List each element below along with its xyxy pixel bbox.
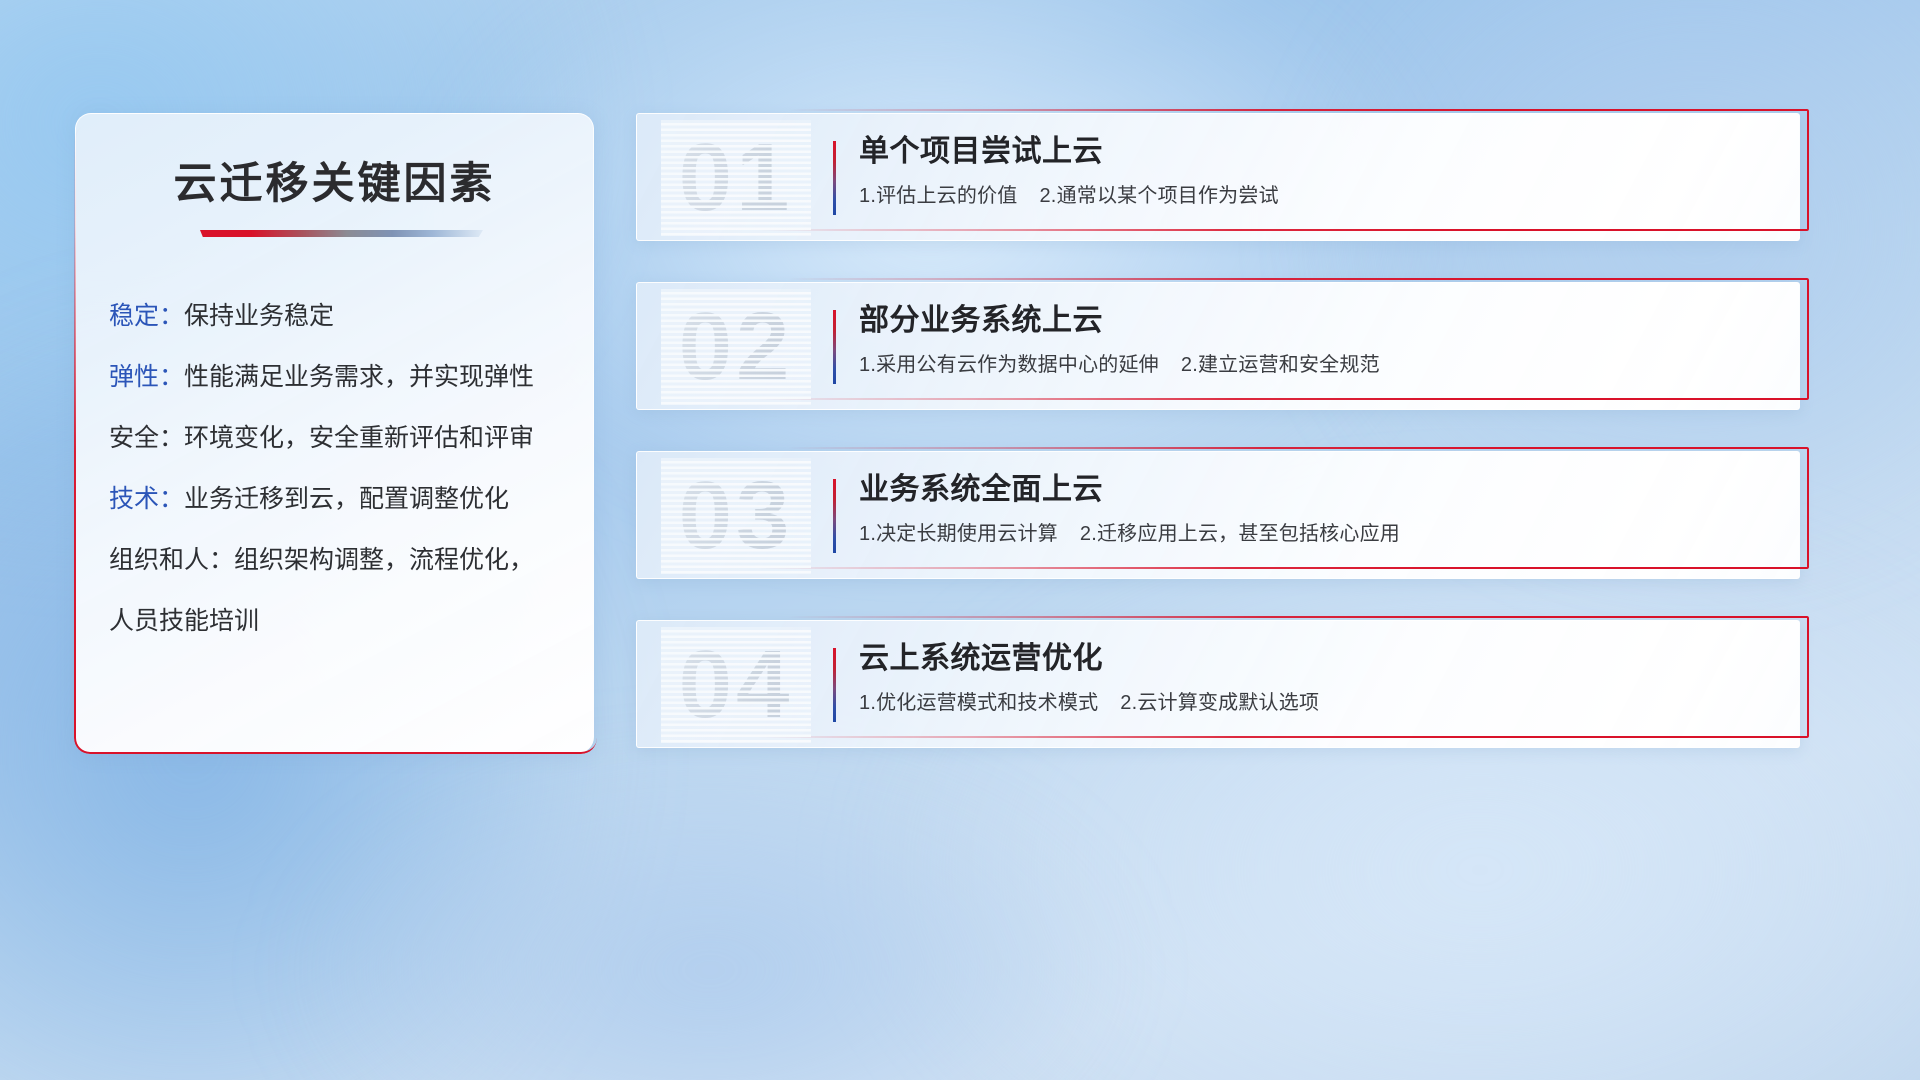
card-subtitle: 1.采用公有云作为数据中心的延伸2.建立运营和安全规范 bbox=[859, 352, 1769, 378]
list-item-continuation: 人员技能培训 bbox=[109, 607, 569, 636]
card-point-2: 2.建立运营和安全规范 bbox=[1181, 354, 1380, 376]
card-content: 云上系统运营优化 1.优化运营模式和技术模式2.云计算变成默认选项 bbox=[859, 639, 1769, 716]
factor-label: 弹性： bbox=[109, 363, 184, 391]
card-title: 业务系统全面上云 bbox=[859, 470, 1769, 510]
title-underline-accent bbox=[200, 230, 483, 237]
stage-card-02[interactable]: 02 部分业务系统上云 1.采用公有云作为数据中心的延伸2.建立运营和安全规范 bbox=[636, 282, 1800, 410]
card-accent-divider bbox=[833, 310, 836, 384]
factor-label: 技术： bbox=[109, 485, 184, 513]
list-item: 弹性：性能满足业务需求，并实现弹性 bbox=[109, 363, 569, 392]
page-title: 云迁移关键因素 bbox=[76, 149, 593, 211]
list-item: 技术：业务迁移到云，配置调整优化 bbox=[109, 485, 569, 514]
card-point-1: 1.评估上云的价值 bbox=[859, 185, 1017, 207]
factor-value: 人员技能培训 bbox=[109, 607, 259, 635]
stage-card-04[interactable]: 04 云上系统运营优化 1.优化运营模式和技术模式2.云计算变成默认选项 bbox=[636, 620, 1800, 748]
factor-value: 组织架构调整，流程优化， bbox=[234, 546, 534, 574]
card-content: 业务系统全面上云 1.决定长期使用云计算2.迁移应用上云，甚至包括核心应用 bbox=[859, 470, 1769, 547]
background-glow-bottom-center bbox=[300, 760, 1120, 1080]
card-point-2: 2.云计算变成默认选项 bbox=[1120, 692, 1319, 714]
card-subtitle: 1.决定长期使用云计算2.迁移应用上云，甚至包括核心应用 bbox=[859, 521, 1769, 547]
factor-value: 环境变化，安全重新评估和评审 bbox=[184, 424, 534, 452]
card-number-text: 04 bbox=[661, 627, 811, 743]
factor-label: 安全： bbox=[109, 424, 184, 452]
list-item: 组织和人：组织架构调整，流程优化， bbox=[109, 546, 569, 575]
card-title: 单个项目尝试上云 bbox=[859, 132, 1769, 172]
card-accent-divider bbox=[833, 141, 836, 215]
factor-value: 性能满足业务需求，并实现弹性 bbox=[184, 363, 534, 391]
card-title: 部分业务系统上云 bbox=[859, 301, 1769, 341]
card-content: 单个项目尝试上云 1.评估上云的价值2.通常以某个项目作为尝试 bbox=[859, 132, 1769, 209]
slide-canvas: 云迁移关键因素 稳定：保持业务稳定 弹性：性能满足业务需求，并实现弹性 安全：环… bbox=[0, 0, 1920, 1080]
card-point-1: 1.采用公有云作为数据中心的延伸 bbox=[859, 354, 1159, 376]
card-point-2: 2.迁移应用上云，甚至包括核心应用 bbox=[1080, 523, 1400, 545]
card-accent-divider bbox=[833, 648, 836, 722]
card-point-1: 1.优化运营模式和技术模式 bbox=[859, 692, 1098, 714]
card-title: 云上系统运营优化 bbox=[859, 639, 1769, 679]
stage-card-03[interactable]: 03 业务系统全面上云 1.决定长期使用云计算2.迁移应用上云，甚至包括核心应用 bbox=[636, 451, 1800, 579]
card-subtitle: 1.评估上云的价值2.通常以某个项目作为尝试 bbox=[859, 183, 1769, 209]
card-point-1: 1.决定长期使用云计算 bbox=[859, 523, 1058, 545]
card-content: 部分业务系统上云 1.采用公有云作为数据中心的延伸2.建立运营和安全规范 bbox=[859, 301, 1769, 378]
card-number-watermark: 02 bbox=[661, 289, 811, 405]
stage-card-01[interactable]: 01 单个项目尝试上云 1.评估上云的价值2.通常以某个项目作为尝试 bbox=[636, 113, 1800, 241]
card-number-watermark: 01 bbox=[661, 120, 811, 236]
factor-label: 稳定： bbox=[109, 302, 184, 330]
card-point-2: 2.通常以某个项目作为尝试 bbox=[1039, 185, 1278, 207]
card-number-watermark: 04 bbox=[661, 627, 811, 743]
card-number-text: 01 bbox=[661, 120, 811, 236]
card-number-watermark: 03 bbox=[661, 458, 811, 574]
card-subtitle: 1.优化运营模式和技术模式2.云计算变成默认选项 bbox=[859, 690, 1769, 716]
stage-cards-list: 01 单个项目尝试上云 1.评估上云的价值2.通常以某个项目作为尝试 02 bbox=[636, 113, 1800, 789]
factor-value: 业务迁移到云，配置调整优化 bbox=[184, 485, 509, 513]
list-item: 安全：环境变化，安全重新评估和评审 bbox=[109, 424, 569, 453]
key-factors-list: 稳定：保持业务稳定 弹性：性能满足业务需求，并实现弹性 安全：环境变化，安全重新… bbox=[109, 302, 569, 636]
card-number-text: 02 bbox=[661, 289, 811, 405]
factor-label: 组织和人： bbox=[109, 546, 234, 574]
card-accent-divider bbox=[833, 479, 836, 553]
factor-value: 保持业务稳定 bbox=[184, 302, 334, 330]
list-item: 稳定：保持业务稳定 bbox=[109, 302, 569, 331]
key-factors-panel: 云迁移关键因素 稳定：保持业务稳定 弹性：性能满足业务需求，并实现弹性 安全：环… bbox=[75, 113, 594, 753]
card-number-text: 03 bbox=[661, 458, 811, 574]
